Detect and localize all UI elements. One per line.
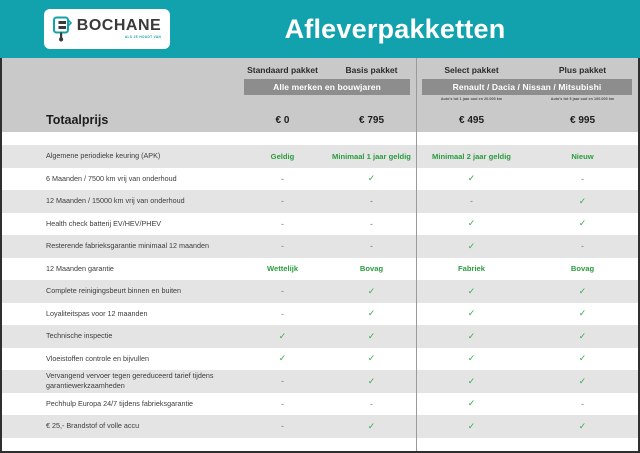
brand-name: BOCHANE	[77, 18, 161, 34]
row-cell-2: ✓	[416, 331, 527, 342]
row-cell-0: -	[238, 219, 327, 229]
table-row: Pechhulp Europa 24/7 tijdens fabrieksgar…	[2, 393, 638, 416]
row-cell-1: ✓	[327, 286, 416, 297]
feature-rows: Algemene periodieke keuring (APK)GeldigM…	[2, 145, 638, 438]
row-label: Complete reinigingsbeurt binnen en buite…	[2, 286, 238, 296]
header-empty-cell	[2, 58, 238, 108]
row-cell-0: -	[238, 376, 327, 386]
row-cell-0: -	[238, 241, 327, 251]
table-column-header: Standaard pakket Basis pakket Alle merke…	[2, 58, 638, 108]
package-note-select: Auto's tot 1 jaar oud en 20.000 km	[416, 97, 527, 101]
row-cell-3: -	[527, 174, 638, 184]
row-cell-2: ✓	[416, 286, 527, 297]
row-cell-2: ✓	[416, 308, 527, 319]
row-label: Loyaliteitspas voor 12 maanden	[2, 309, 238, 319]
row-cell-0: -	[238, 196, 327, 206]
row-cell-0: -	[238, 309, 327, 319]
row-cell-2: ✓	[416, 398, 527, 409]
row-cell-3: ✓	[527, 218, 638, 229]
row-cell-1: ✓	[327, 331, 416, 342]
row-cell-3: Nieuw	[527, 152, 638, 161]
table-row: 6 Maanden / 7500 km vrij van onderhoud-✓…	[2, 168, 638, 191]
table-row: Vervangend vervoer tegen gereduceerd tar…	[2, 370, 638, 393]
total-price-standaard: € 0	[238, 115, 327, 126]
row-cell-1: -	[327, 241, 416, 251]
row-cell-1: ✓	[327, 421, 416, 432]
bochane-logo-icon	[53, 16, 72, 42]
row-cell-3: ✓	[527, 421, 638, 432]
row-cell-2: ✓	[416, 241, 527, 252]
row-cell-1: Minimaal 1 jaar geldig	[327, 152, 416, 161]
packages-table: Standaard pakket Basis pakket Alle merke…	[0, 58, 640, 453]
table-row: Vloeistoffen controle en bijvullen✓✓✓✓	[2, 348, 638, 371]
row-cell-3: ✓	[527, 331, 638, 342]
total-price-row: Totaalprijs € 0 € 795 € 495 € 995	[2, 108, 638, 132]
table-row: € 25,- Brandstof of volle accu-✓✓✓	[2, 415, 638, 438]
row-cell-2: Minimaal 2 jaar geldig	[416, 152, 527, 161]
row-cell-2: ✓	[416, 218, 527, 229]
package-name-plus: Plus pakket	[527, 65, 638, 75]
package-note-plus: Auto's tot 5 jaar oud en 100.000 km	[527, 97, 638, 101]
row-label: € 25,- Brandstof of volle accu	[2, 421, 238, 431]
page-header: BOCHANE ALS JE HOUDT VAN Afleverpakkette…	[0, 0, 640, 58]
row-label: Technische inspectie	[2, 331, 238, 341]
package-group-right: Select pakket Plus pakket Renault / Daci…	[416, 58, 638, 108]
row-cell-1: ✓	[327, 308, 416, 319]
row-label: Pechhulp Europa 24/7 tijdens fabrieksgar…	[2, 399, 238, 409]
row-label: 12 Maanden / 15000 km vrij van onderhoud	[2, 196, 238, 206]
row-label: Algemene periodieke keuring (APK)	[2, 151, 238, 161]
row-cell-0: -	[238, 421, 327, 431]
row-cell-0: -	[238, 286, 327, 296]
row-cell-2: ✓	[416, 421, 527, 432]
row-cell-1: Bovag	[327, 264, 416, 273]
group-band-left: Alle merken en bouwjaren	[244, 79, 410, 95]
row-cell-3: ✓	[527, 353, 638, 364]
package-name-select: Select pakket	[416, 65, 527, 75]
row-cell-0: -	[238, 399, 327, 409]
row-label: Resterende fabrieksgarantie minimaal 12 …	[2, 241, 238, 251]
row-cell-1: -	[327, 219, 416, 229]
table-row: Algemene periodieke keuring (APK)GeldigM…	[2, 145, 638, 168]
total-price-basis: € 795	[327, 115, 416, 126]
row-cell-0: ✓	[238, 331, 327, 342]
table-row: 12 Maanden / 15000 km vrij van onderhoud…	[2, 190, 638, 213]
package-name-basis: Basis pakket	[327, 65, 416, 75]
row-cell-2: -	[416, 196, 527, 206]
row-cell-3: ✓	[527, 286, 638, 297]
table-row: Complete reinigingsbeurt binnen en buite…	[2, 280, 638, 303]
row-cell-3: -	[527, 399, 638, 409]
table-row: Resterende fabrieksgarantie minimaal 12 …	[2, 235, 638, 258]
table-bottom-pad	[2, 438, 638, 453]
row-cell-3: ✓	[527, 308, 638, 319]
package-name-standaard: Standaard pakket	[238, 65, 327, 75]
row-cell-0: Wettelijk	[238, 264, 327, 273]
table-spacer	[2, 132, 638, 145]
row-cell-0: -	[238, 174, 327, 184]
row-cell-2: ✓	[416, 376, 527, 387]
row-cell-3: ✓	[527, 196, 638, 207]
brand-logo[interactable]: BOCHANE ALS JE HOUDT VAN	[44, 9, 170, 49]
row-cell-2: Fabriek	[416, 264, 527, 273]
row-cell-1: -	[327, 399, 416, 409]
row-cell-0: Geldig	[238, 152, 327, 161]
total-price-select: € 495	[416, 115, 527, 126]
table-row: 12 Maanden garantieWettelijkBovagFabriek…	[2, 258, 638, 281]
table-row: Technische inspectie✓✓✓✓	[2, 325, 638, 348]
total-price-label: Totaalprijs	[2, 113, 238, 127]
total-price-plus: € 995	[527, 115, 638, 126]
row-label: Vloeistoffen controle en bijvullen	[2, 354, 238, 364]
row-cell-3: -	[527, 241, 638, 251]
row-label: 12 Maanden garantie	[2, 264, 238, 274]
group-band-right: Renault / Dacia / Nissan / Mitsubishi	[422, 79, 632, 95]
row-cell-1: ✓	[327, 173, 416, 184]
row-cell-0: ✓	[238, 353, 327, 364]
row-label: 6 Maanden / 7500 km vrij van onderhoud	[2, 174, 238, 184]
row-label: Vervangend vervoer tegen gereduceerd tar…	[2, 371, 238, 392]
row-cell-1: -	[327, 196, 416, 206]
brand-tagline: ALS JE HOUDT VAN	[125, 36, 161, 39]
row-cell-2: ✓	[416, 353, 527, 364]
table-row: Health check batterij EV/HEV/PHEV--✓✓	[2, 213, 638, 236]
row-cell-2: ✓	[416, 173, 527, 184]
row-cell-3: ✓	[527, 376, 638, 387]
row-cell-1: ✓	[327, 376, 416, 387]
row-label: Health check batterij EV/HEV/PHEV	[2, 219, 238, 229]
package-group-left: Standaard pakket Basis pakket Alle merke…	[238, 58, 416, 108]
row-cell-1: ✓	[327, 353, 416, 364]
table-row: Loyaliteitspas voor 12 maanden-✓✓✓	[2, 303, 638, 326]
row-cell-3: Bovag	[527, 264, 638, 273]
